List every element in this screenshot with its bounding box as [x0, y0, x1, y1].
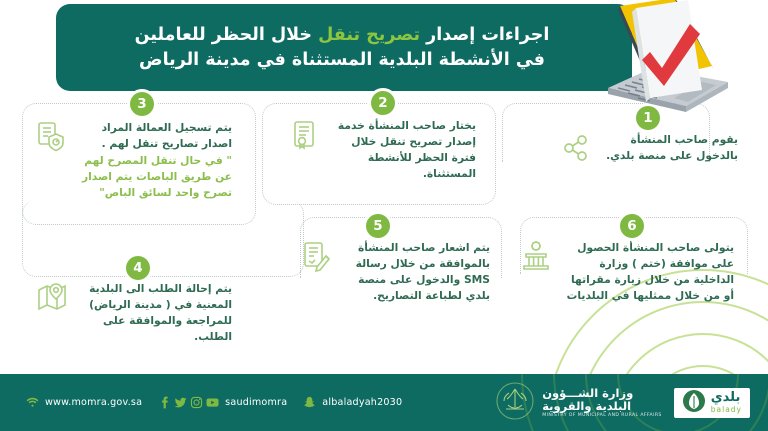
step-4-text: يتم إحالة الطلب الى البلدية المعنية في (…: [74, 281, 232, 345]
government-building-icon: [520, 240, 552, 272]
facebook-icon: [158, 396, 171, 409]
youtube-icon: [206, 396, 219, 409]
step-4: 4 يتم إحالة الطلب الى البلدية المعنية في…: [36, 281, 248, 345]
website-link[interactable]: www.momra.gov.sa: [26, 396, 142, 409]
title-highlight: تصريح تنقل: [318, 25, 420, 45]
social-icons-group: [158, 396, 219, 409]
step-3-main: يتم تسجيل العمالة المراد اصدار تصاريح تن…: [102, 121, 232, 150]
title-line-1: اجراءات إصدار تصريح تنقل خلال الحظر للعا…: [135, 23, 550, 48]
step-2-number: 2: [371, 91, 395, 115]
website-url: www.momra.gov.sa: [45, 397, 142, 408]
document-shield-icon: [34, 120, 66, 152]
social-handle-group[interactable]: saudimomra: [158, 396, 287, 409]
step-1: 1 يقوم صاحب المنشأة بالدخول على منصة بلد…: [560, 132, 750, 164]
infographic-canvas: اجراءات إصدار تصريح تنقل خلال الحظر للعا…: [0, 0, 768, 431]
social-handle: saudimomra: [225, 397, 287, 408]
step-5-number: 5: [366, 214, 390, 238]
footer-links: www.momra.gov.sa saudimomra albaladyah20…: [26, 374, 402, 431]
step-3-quote: " في حال تنقل المصرح لهم عن طريق الباصات…: [72, 153, 232, 201]
twitter-icon: [174, 396, 187, 409]
instagram-icon: [190, 396, 203, 409]
balady-text: بلدي balady: [711, 391, 742, 414]
document-signature-icon: [300, 240, 332, 272]
step-4-number: 4: [126, 256, 150, 280]
step-6: 6 يتولى صاحب المنشأة الحصول: [520, 240, 748, 304]
title-part-post: خلال الحظر للعاملين: [135, 25, 319, 45]
snapchat-group[interactable]: albaladyah2030: [303, 396, 402, 409]
snapchat-handle: albaladyah2030: [322, 397, 402, 408]
ministry-line-2: البلدية والقروية: [542, 400, 631, 413]
saudi-emblem-icon: [495, 381, 535, 425]
step-2: 2 يختار صاحب المنشأة خدمة إصدار تصريح تن…: [288, 118, 488, 182]
balady-logo: بلدي balady: [674, 388, 750, 418]
share-network-icon: [560, 132, 592, 164]
step-6-text: يتولى صاحب المنشأة الحصول على موافقة (خت…: [558, 240, 734, 304]
step-3-number: 3: [130, 92, 154, 116]
document-certificate-icon: [288, 118, 320, 150]
footer-logos: وزارة الشـــؤون البلدية والقروية MINISTR…: [495, 374, 750, 431]
ministry-line-3: MINISTRY OF MUNICIPAL AND RURAL AFFAIRS: [542, 413, 662, 418]
balady-english: balady: [711, 406, 742, 414]
connector-mid: [22, 200, 304, 277]
step-5: 5 يتم اشعار صاحب المنشأة بالموافقة من خل…: [300, 240, 500, 304]
title-part-pre: اجراءات إصدار: [420, 25, 549, 45]
map-location-icon: [36, 281, 68, 313]
wifi-icon: [26, 396, 39, 409]
title-line-2: في الأنشطة البلدية المستثناة في مدينة ال…: [139, 48, 545, 73]
step-1-text: يقوم صاحب المنشأة بالدخول على منصة بلدي.: [598, 132, 738, 164]
step-2-text: يختار صاحب المنشأة خدمة إصدار تصريح تنقل…: [326, 118, 476, 182]
ministry-logo: وزارة الشـــؤون البلدية والقروية MINISTR…: [495, 381, 662, 425]
step-3-text: يتم تسجيل العمالة المراد اصدار تصاريح تن…: [72, 120, 232, 201]
ministry-line-1: وزارة الشـــؤون: [542, 387, 633, 400]
ministry-text: وزارة الشـــؤون البلدية والقروية MINISTR…: [542, 387, 662, 419]
snapchat-icon: [303, 396, 316, 409]
balady-palm-icon: [682, 389, 706, 417]
laptop-illustration: [578, 0, 754, 124]
page-title: اجراءات إصدار تصريح تنقل خلال الحظر للعا…: [68, 10, 616, 86]
footer-bar: www.momra.gov.sa saudimomra albaladyah20…: [0, 374, 768, 431]
step-5-text: يتم اشعار صاحب المنشأة بالموافقة من خلال…: [338, 240, 490, 304]
balady-arabic: بلدي: [711, 391, 741, 404]
step-6-number: 6: [620, 214, 644, 238]
step-3: 3 يتم تسجيل العمالة المراد اصدار تصاريح …: [34, 120, 244, 201]
